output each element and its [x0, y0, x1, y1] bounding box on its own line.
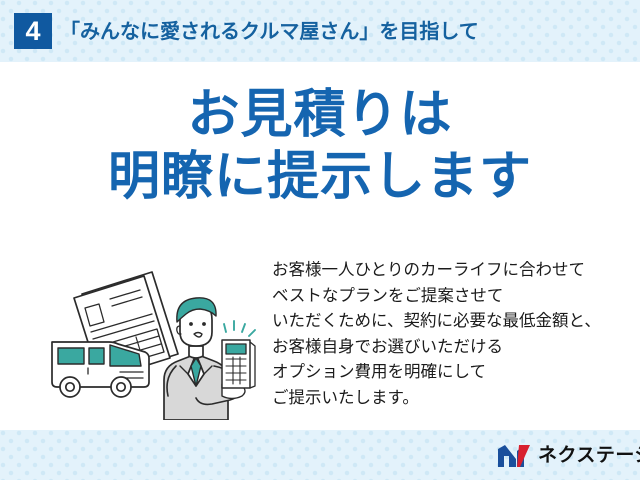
body-copy-line: ご提示いたします。	[272, 386, 632, 412]
brand-logo-text: ネクステージ	[538, 443, 640, 469]
headline-line-1: お見積りは	[0, 84, 640, 146]
headline-line-2: 明瞭に提示します	[0, 146, 640, 208]
van-icon	[52, 342, 149, 397]
calculator-icon	[222, 340, 255, 388]
salesman-illustration-svg	[44, 254, 270, 420]
body-copy: お客様一人ひとりのカーライフに合わせて ベストなプランをご提案させて いただくた…	[272, 258, 632, 411]
main-stage: お見積りは 明瞭に提示します お客様一人ひとりのカーライフに合わせて ベストなプ…	[0, 62, 640, 430]
body-copy-line: オプション費用を明確にして	[272, 360, 632, 386]
brand-logo: ネクステージ	[497, 441, 640, 471]
body-copy-line: いただくために、契約に必要な最低金額と、	[272, 309, 632, 335]
nextage-logo-mark-icon	[497, 443, 531, 469]
salesman-illustration	[44, 254, 270, 420]
body-copy-line: ベストなプランをご提案させて	[272, 284, 632, 310]
body-copy-line: お客様自身でお選びいただける	[272, 335, 632, 361]
body-copy-line: お客様一人ひとりのカーライフに合わせて	[272, 258, 632, 284]
sparkle-icon	[224, 321, 255, 336]
section-number-badge: 4	[14, 13, 52, 49]
headline: お見積りは 明瞭に提示します	[0, 84, 640, 208]
header-title: 「みんなに愛されるクルマ屋さん」を目指して	[60, 16, 479, 48]
advertisement-page: 4 「みんなに愛されるクルマ屋さん」を目指して お見積りは 明瞭に提示します お…	[0, 0, 640, 480]
